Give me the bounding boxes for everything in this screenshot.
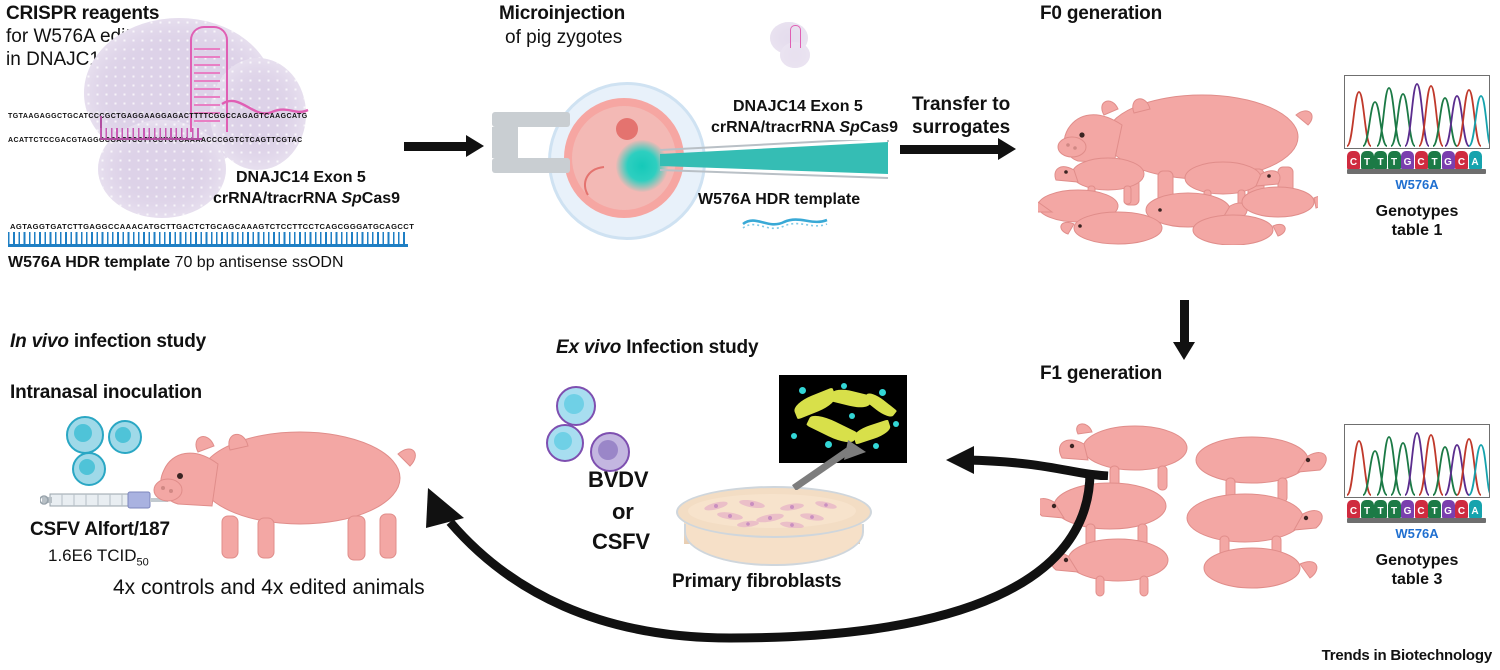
protospacer-rungs — [100, 128, 200, 138]
holding-pipette-upper — [492, 112, 570, 127]
virion-core — [79, 459, 95, 475]
micrograph-nucleus-stain — [841, 383, 847, 389]
crispr-reagent-label-rnp: crRNA/tracrRNA SpCas9 — [213, 189, 400, 209]
in-vivo-dose-value: 1.6E6 TCID — [48, 546, 137, 565]
journal-credit: Trends in Biotechnology — [1322, 647, 1492, 664]
in-vivo-virion-1 — [66, 416, 100, 450]
holding-pipette-neck — [492, 127, 518, 158]
base-call: A — [1469, 151, 1482, 169]
f0-chromatogram: C T T T G C T G C A W576A Genotypes tabl… — [1344, 75, 1492, 240]
in-vivo-groups: 4x controls and 4x edited animals — [113, 576, 425, 600]
transfer-label-line2: surrogates — [912, 118, 1010, 138]
holding-pipette — [492, 112, 570, 176]
injection-needle — [660, 140, 890, 184]
base-call: T — [1428, 500, 1441, 518]
ex-vivo-virion-1 — [556, 386, 592, 422]
f1-variant-label: W576A — [1344, 526, 1490, 541]
f0-chromatogram-plot — [1344, 75, 1490, 149]
base-call: C — [1455, 500, 1468, 518]
base-call: C — [1347, 151, 1360, 169]
ex-vivo-title-rest: Infection study — [621, 337, 758, 358]
f0-chromatogram-traces — [1345, 76, 1489, 148]
in-vivo-title-rest: infection study — [69, 331, 206, 352]
in-vivo-dose-subscript: 50 — [137, 556, 149, 568]
f1-chromatogram-plot — [1344, 424, 1490, 498]
hdr-template-caption-rest: 70 bp antisense ssODN — [170, 254, 343, 271]
base-call: T — [1374, 500, 1387, 518]
micrograph-nucleus-stain — [849, 413, 855, 419]
micrograph-nucleus-stain — [879, 389, 886, 396]
ex-vivo-title: Ex vivo Infection study — [556, 336, 758, 359]
base-call: T — [1428, 151, 1441, 169]
f1-chromatogram-base-calls: C T T T G C T G C A — [1347, 500, 1492, 518]
in-vivo-virion-3 — [72, 452, 102, 482]
base-call: A — [1469, 500, 1482, 518]
f1-chromatogram-traces — [1345, 425, 1489, 497]
microinjection-hdr-label: W576A HDR template — [698, 190, 860, 210]
base-call: G — [1401, 500, 1414, 518]
base-call: C — [1455, 151, 1468, 169]
holding-pipette-lower — [492, 158, 570, 173]
zygote-polar-body-outline — [578, 164, 612, 200]
hdr-template-sequence: AGTAGGTGATCTTGAGGCCAAACATGCTTGACTCTGCAGC… — [10, 222, 414, 231]
micrograph-nucleus-stain — [893, 421, 899, 427]
base-call: T — [1361, 151, 1374, 169]
arrow-transfer-head — [998, 138, 1016, 160]
in-vivo-virion-2 — [108, 420, 138, 450]
hdr-seq-part-b: AAAGTCTCCTTCCTCAGCGGGATGCAGCCT — [241, 222, 415, 231]
virion-core — [115, 427, 131, 443]
arrow-ex-vivo-to-in-vivo — [400, 452, 1100, 652]
micrograph-nucleus-stain — [791, 433, 797, 439]
base-call: T — [1374, 151, 1387, 169]
cas9-icon-guide — [790, 25, 801, 48]
base-call: T — [1388, 500, 1401, 518]
arrow-f0-to-f1-head — [1173, 342, 1195, 360]
f1-genotypes-table-label: Genotypes table 3 — [1344, 551, 1490, 589]
ssodn-icon — [740, 212, 830, 234]
microinjection-reagent-label-exon: DNAJC14 Exon 5 — [733, 97, 863, 117]
arrow-crispr-to-microinjection-head — [466, 135, 484, 157]
f0-piglets-illustration — [1038, 150, 1318, 245]
base-call: C — [1347, 500, 1360, 518]
in-vivo-pig-illustration — [150, 420, 420, 565]
base-call: T — [1361, 500, 1374, 518]
virion-core — [564, 394, 584, 414]
in-vivo-dose: 1.6E6 TCID50 — [48, 545, 149, 573]
microinjection-subtitle: of pig zygotes — [505, 26, 622, 49]
base-call: G — [1442, 151, 1455, 169]
cas9-icon-small — [768, 20, 824, 72]
microinjection-title: Microinjection — [499, 2, 625, 25]
transfer-label-line1: Transfer to — [912, 95, 1010, 115]
hdr-template-backbone — [8, 232, 408, 244]
hdr-template-caption-bold: W576A HDR template — [8, 254, 170, 271]
hdr-template-caption: W576A HDR template 70 bp antisense ssODN — [8, 253, 344, 273]
zygote-pronucleus — [616, 118, 638, 140]
f1-chromatogram: C T T T G C T G C A W576A Genotypes tabl… — [1344, 424, 1492, 589]
hdr-template-strand-line — [8, 244, 408, 247]
base-call: C — [1415, 151, 1428, 169]
f1-chromatogram-baseline — [1347, 518, 1486, 523]
injection-needle-shape — [660, 140, 890, 184]
base-call: G — [1442, 500, 1455, 518]
virion-core — [74, 424, 92, 442]
arrow-transfer-line — [900, 145, 998, 154]
microinjection-reagent-label-rnp: crRNA/tracrRNA SpCas9 — [711, 118, 898, 138]
base-call: C — [1415, 500, 1428, 518]
arrow-f0-to-f1-line — [1180, 300, 1189, 342]
f0-title: F0 generation — [1040, 2, 1162, 25]
in-vivo-method: Intranasal inoculation — [10, 381, 202, 404]
hdr-seq-part-a: AGTAGGTGATCTTGAGGCCAAACATGCTTGACTCTGC — [10, 222, 223, 231]
f0-genotypes-table-label: Genotypes table 1 — [1344, 202, 1490, 240]
arrow-crispr-to-microinjection-line — [404, 142, 466, 151]
virion-core — [554, 432, 572, 450]
f1-title: F1 generation — [1040, 362, 1162, 385]
in-vivo-virus-strain: CSFV Alfort/187 — [30, 518, 170, 541]
base-call: G — [1401, 151, 1414, 169]
f0-variant-label: W576A — [1344, 177, 1490, 192]
f0-chromatogram-baseline — [1347, 169, 1486, 174]
hdr-seq-mutation: AGC — [223, 222, 241, 231]
f0-chromatogram-base-calls: C T T T G C T G C A — [1347, 151, 1492, 169]
ex-vivo-title-italic: Ex vivo — [556, 337, 621, 358]
in-vivo-title: In vivo infection study — [10, 330, 206, 353]
in-vivo-title-italic: In vivo — [10, 331, 69, 352]
crispr-reagent-label-exon: DNAJC14 Exon 5 — [236, 168, 366, 188]
base-call: T — [1388, 151, 1401, 169]
micrograph-nucleus-stain — [799, 387, 806, 394]
